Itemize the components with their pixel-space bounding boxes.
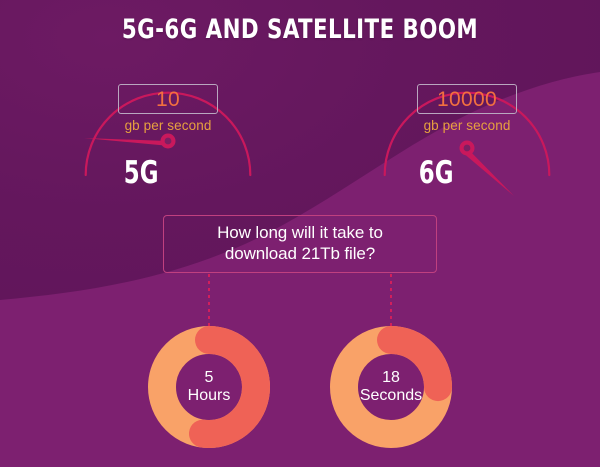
gauge-5g-label: 5G	[124, 158, 159, 189]
question-text: How long will it take to download 21Tb f…	[217, 223, 383, 264]
donut-5g-download-time: 5 Hours	[147, 325, 271, 449]
infographic-canvas: 5G-6G AND SATELLITE BOOM 10 gb per secon…	[0, 0, 600, 467]
gauge-5g-value: 10	[156, 89, 180, 110]
page-title: 5G-6G AND SATELLITE BOOM	[36, 14, 564, 45]
connector-line-right	[390, 274, 392, 332]
gauge-5g: 10 gb per second 5G	[68, 62, 268, 232]
gauge-5g-value-box: 10	[118, 84, 218, 114]
gauge-5g-unit: gb per second	[78, 118, 258, 133]
gauge-6g-label: 6G	[419, 158, 454, 189]
donut-6g-center-label: 18 Seconds	[329, 325, 453, 449]
donut-6g-download-time: 18 Seconds	[329, 325, 453, 449]
question-box: How long will it take to download 21Tb f…	[163, 215, 437, 273]
gauge-6g: 10000 gb per second 6G	[367, 62, 567, 232]
question-line-2: download 21Tb file?	[225, 244, 375, 263]
donut-5g-number: 5	[205, 369, 214, 387]
connector-line-left	[208, 274, 210, 332]
gauge-6g-value-box: 10000	[417, 84, 517, 114]
donut-5g-unit: Hours	[188, 387, 231, 405]
donut-5g-center-label: 5 Hours	[147, 325, 271, 449]
donut-6g-number: 18	[382, 369, 400, 387]
gauge-6g-unit: gb per second	[377, 118, 557, 133]
gauge-6g-value: 10000	[437, 89, 497, 110]
question-line-1: How long will it take to	[217, 223, 383, 242]
donut-6g-unit: Seconds	[360, 387, 422, 405]
